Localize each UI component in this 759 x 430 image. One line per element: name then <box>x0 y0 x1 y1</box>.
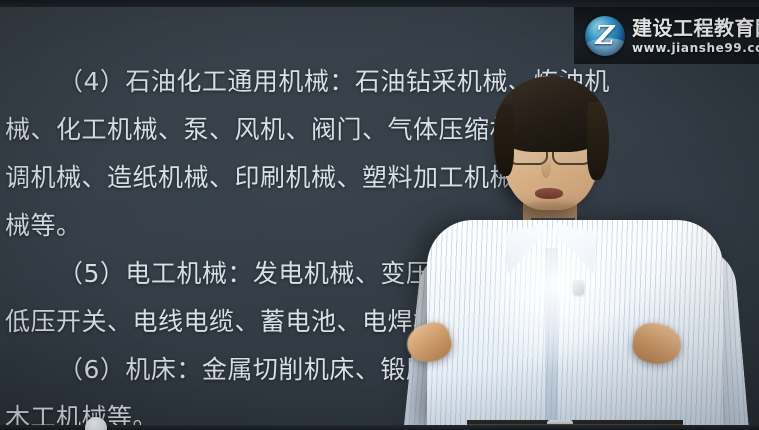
presenter-nose <box>541 156 551 178</box>
presenter-chin-shadow <box>519 202 581 216</box>
logo-globe-icon: Z <box>585 16 625 56</box>
presenter-hair-side <box>587 102 609 180</box>
presenter-hair-side <box>494 104 514 176</box>
presenter-figure <box>395 52 759 430</box>
logo-site-url: www.jianshe99.com <box>632 42 759 54</box>
logo-text-group: 建设工程教育网 www.jianshe99.com <box>632 18 759 54</box>
frame-top-strip <box>0 0 759 7</box>
presenter-mouth <box>535 188 563 199</box>
shirt-placket <box>545 248 558 426</box>
clip-microphone <box>573 280 584 295</box>
frame-bottom-strip <box>0 425 759 430</box>
video-frame: （4）石油化工通用机械：石油钻采机械、炼油机 械、化工机械、泵、风机、阀门、气体… <box>0 0 759 430</box>
logo-letter: Z <box>585 16 625 56</box>
site-logo[interactable]: Z 建设工程教育网 www.jianshe99.com <box>585 12 755 60</box>
logo-site-name: 建设工程教育网 <box>632 18 759 38</box>
